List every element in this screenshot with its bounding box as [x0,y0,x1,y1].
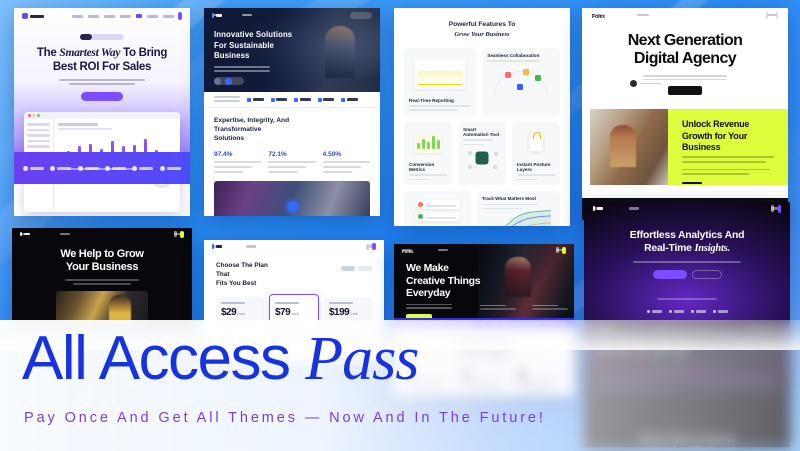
nav-link[interactable] [104,15,115,18]
carousel-dots[interactable] [214,78,232,85]
plan-tier-label [221,302,245,304]
hero-stats [480,305,568,312]
section-title: Expertise, Integrity, And Transformative… [204,108,300,144]
brand-logos [584,310,790,314]
client-logo [247,98,264,102]
banner-tagline: Pay Once And Get All Themes — Now And In… [0,410,800,426]
logo-strip [14,152,190,184]
template-card-saas-roi[interactable]: The Smartest Way To BringBest ROI For Sa… [14,8,190,216]
hero-stat-item [480,305,516,312]
nav-link[interactable] [72,15,83,18]
feature-title: Instant Posture Layers [517,162,555,172]
hero-headline: Next GenerationDigital Agency [582,22,788,68]
hero-cta-button[interactable] [81,92,123,101]
brand-logo[interactable]: Folex [592,14,604,17]
navbar-cta-button[interactable] [178,12,182,20]
template-card-agency-lime[interactable]: Folex Next GenerationDigital Agency Unlo… [582,8,788,220]
feature-card[interactable]: Track What Matters Most [477,191,560,226]
feature-title: Smart Automation Tool [463,127,501,137]
brand-logo-item [669,310,684,314]
navbar-cta-button[interactable] [180,231,184,238]
hero-primary-button[interactable] [653,270,687,279]
client-logo [294,98,311,102]
client-logo [341,98,358,102]
nav-link[interactable] [163,15,174,18]
brand-logo[interactable]: Folex [402,249,412,251]
navbar-cta-button[interactable] [372,243,376,250]
nav-badge [136,14,142,18]
language-selector[interactable] [556,247,559,253]
hero-subtext [65,279,139,285]
client-logo [318,98,335,102]
stat-item: 72.1% [268,151,315,173]
plan-price: $29/month [221,307,259,318]
hero-subtext [204,66,380,72]
hero-section: Innovative Solutions For Sustainable Bus… [204,8,380,92]
page-title: Choose The Plan ThatFits You Best [204,253,282,289]
lock-icon [529,135,543,151]
plan-price: $199/month [329,307,367,318]
feature-card[interactable]: Instant Posture Layers [512,122,560,185]
hero-stat-item [532,305,568,312]
nav-link[interactable] [88,15,99,18]
hero-headline: Innovative Solutions For Sustainable Bus… [204,22,300,62]
navbar[interactable] [12,228,192,240]
navbar-cta-button[interactable] [350,12,372,19]
navbar[interactable]: Folex [394,244,574,256]
navbar[interactable]: Folex [582,8,788,22]
brand-logo[interactable] [22,13,44,19]
feature-card[interactable]: Real-Time Updates, Zero Delays [404,191,471,226]
hero-section: The Smartest Way To BringBest ROI For Sa… [14,8,190,184]
feature-card[interactable]: Seamless Collaboration [482,48,560,116]
hero-cta-button[interactable] [668,86,702,95]
feature-card[interactable]: Conversion Metrics [404,122,452,185]
language-selector[interactable] [174,231,177,237]
section-photo-man-laptop [590,109,668,185]
language-selector[interactable] [766,12,768,19]
feature-title: Real-Time Reporting [409,98,471,103]
brand-logo[interactable] [212,245,222,247]
nav-link[interactable] [120,15,131,18]
feature-card[interactable]: Smart Automation Tool [458,122,506,185]
brand-logo[interactable] [20,233,30,235]
features-grid: Real-Time Reporting Seamless Collaborati… [394,40,570,226]
brand-logo-item [691,310,706,314]
section-link[interactable] [682,182,702,184]
hero-headline: Effortless Analytics AndReal-Time Insigh… [584,215,790,255]
menu-icon[interactable] [776,11,778,19]
billing-period-toggle[interactable] [341,266,372,271]
hero-headline: The Smartest Way To BringBest ROI For Sa… [14,46,190,74]
navbar[interactable] [14,8,190,24]
navbar[interactable] [584,202,790,215]
hero-buttons [584,270,790,279]
area-chart [486,209,551,226]
plan-price: $79/month [275,307,313,318]
trust-caption [584,287,790,305]
brand-logo-item [647,310,662,314]
stats-row: 97.4% 72.1% 4.50% [204,144,380,173]
feature-title: Seamless Collaboration [487,53,555,58]
toggle-monthly[interactable] [341,266,355,271]
brand-logo[interactable] [212,14,222,17]
feature-title: Conversion Metrics [409,162,447,172]
hero-headline: We Help to GrowYour Business [12,240,192,274]
section-headline: Powerful Features ToGrow Your Business [394,8,570,40]
brand-logo[interactable] [593,207,603,209]
plan-tier-label [329,302,353,304]
nav-links[interactable] [72,14,174,18]
stat-item: 4.50% [323,151,370,173]
template-card-grow-business[interactable]: We Help to GrowYour Business [12,228,192,332]
hero-subtext [633,261,741,263]
client-logo [271,98,288,102]
plan-tier-label [275,302,299,304]
hero-cta-button[interactable] [406,314,432,318]
feature-title: Track What Matters Most [482,196,555,201]
dashboard-titlebar [24,112,180,119]
navbar[interactable] [204,8,380,22]
template-card-corporate-navy[interactable]: Innovative Solutions For Sustainable Bus… [204,8,380,216]
hero-headline: We MakeCreative ThingsEveryday [394,256,492,300]
banner-headline: All Access Pass [0,328,800,390]
revenue-section: Unlock Revenue Growth for Your Business [668,109,788,185]
language-selector[interactable] [366,244,369,250]
client-logo-row [204,92,380,108]
stat-item: 97.4% [214,151,261,173]
feature-card[interactable]: Real-Time Reporting [404,48,476,116]
hero-eyebrow-badge [80,34,124,40]
brand-logo-item [713,310,728,314]
all-access-pass-banner: All Access Pass Pay Once And Get All The… [0,320,800,451]
template-card-features[interactable]: Powerful Features ToGrow Your Business R… [394,8,570,226]
navbar[interactable] [204,240,384,253]
social-proof-avatars [630,80,662,87]
video-thumbnail[interactable] [214,181,370,216]
navbar-cta-button[interactable] [778,205,781,213]
section-headline: Unlock Revenue Growth for Your Business [682,119,778,153]
toggle-yearly[interactable] [358,266,372,271]
nav-link[interactable] [147,15,158,18]
hero-subtext [59,79,145,85]
language-selector[interactable] [771,205,774,212]
hero-section: Folex We MakeCreative ThingsEveryday [394,244,574,318]
hero-secondary-button[interactable] [692,270,722,279]
navbar-cta-button[interactable] [562,247,566,254]
